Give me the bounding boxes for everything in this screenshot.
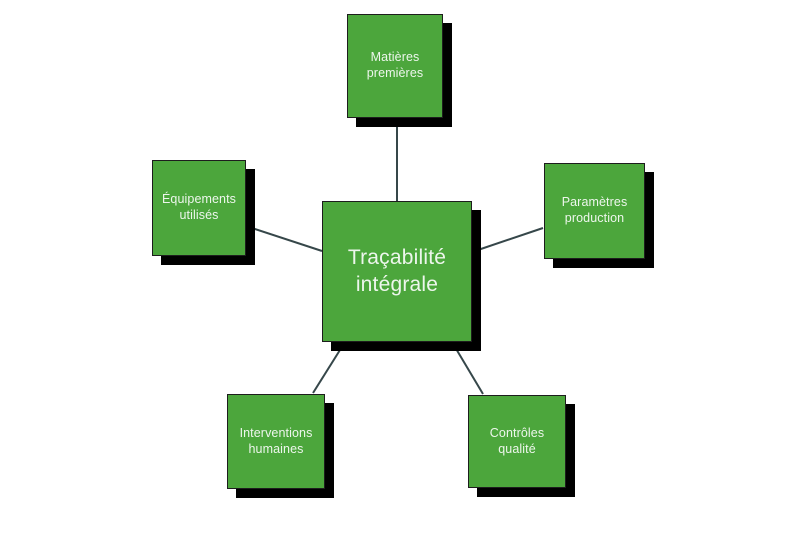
- node-equipements-utilises[interactable]: Équipements utilisés: [152, 160, 246, 256]
- node-label-interventions-humaines: Interventions humaines: [234, 426, 319, 457]
- node-tracabilite-integrale[interactable]: Traçabilité intégrale: [322, 201, 472, 342]
- node-interventions-humaines[interactable]: Interventions humaines: [227, 394, 325, 489]
- node-label-matieres-premieres: Matières premières: [361, 50, 429, 81]
- node-label-controles-qualite: Contrôles qualité: [484, 426, 550, 457]
- diagram-canvas: Traçabilité intégraleMatières premièresÉ…: [0, 0, 800, 533]
- connector-center-to-equipements-utilises: [252, 228, 322, 251]
- node-label-parametres-production: Paramètres production: [556, 195, 634, 226]
- node-label-equipements-utilises: Équipements utilisés: [156, 192, 242, 223]
- node-controles-qualite[interactable]: Contrôles qualité: [468, 395, 566, 488]
- node-matieres-premieres[interactable]: Matières premières: [347, 14, 443, 118]
- node-label-tracabilite-integrale: Traçabilité intégrale: [342, 245, 452, 298]
- node-parametres-production[interactable]: Paramètres production: [544, 163, 645, 259]
- connector-center-to-parametres-production: [472, 228, 543, 252]
